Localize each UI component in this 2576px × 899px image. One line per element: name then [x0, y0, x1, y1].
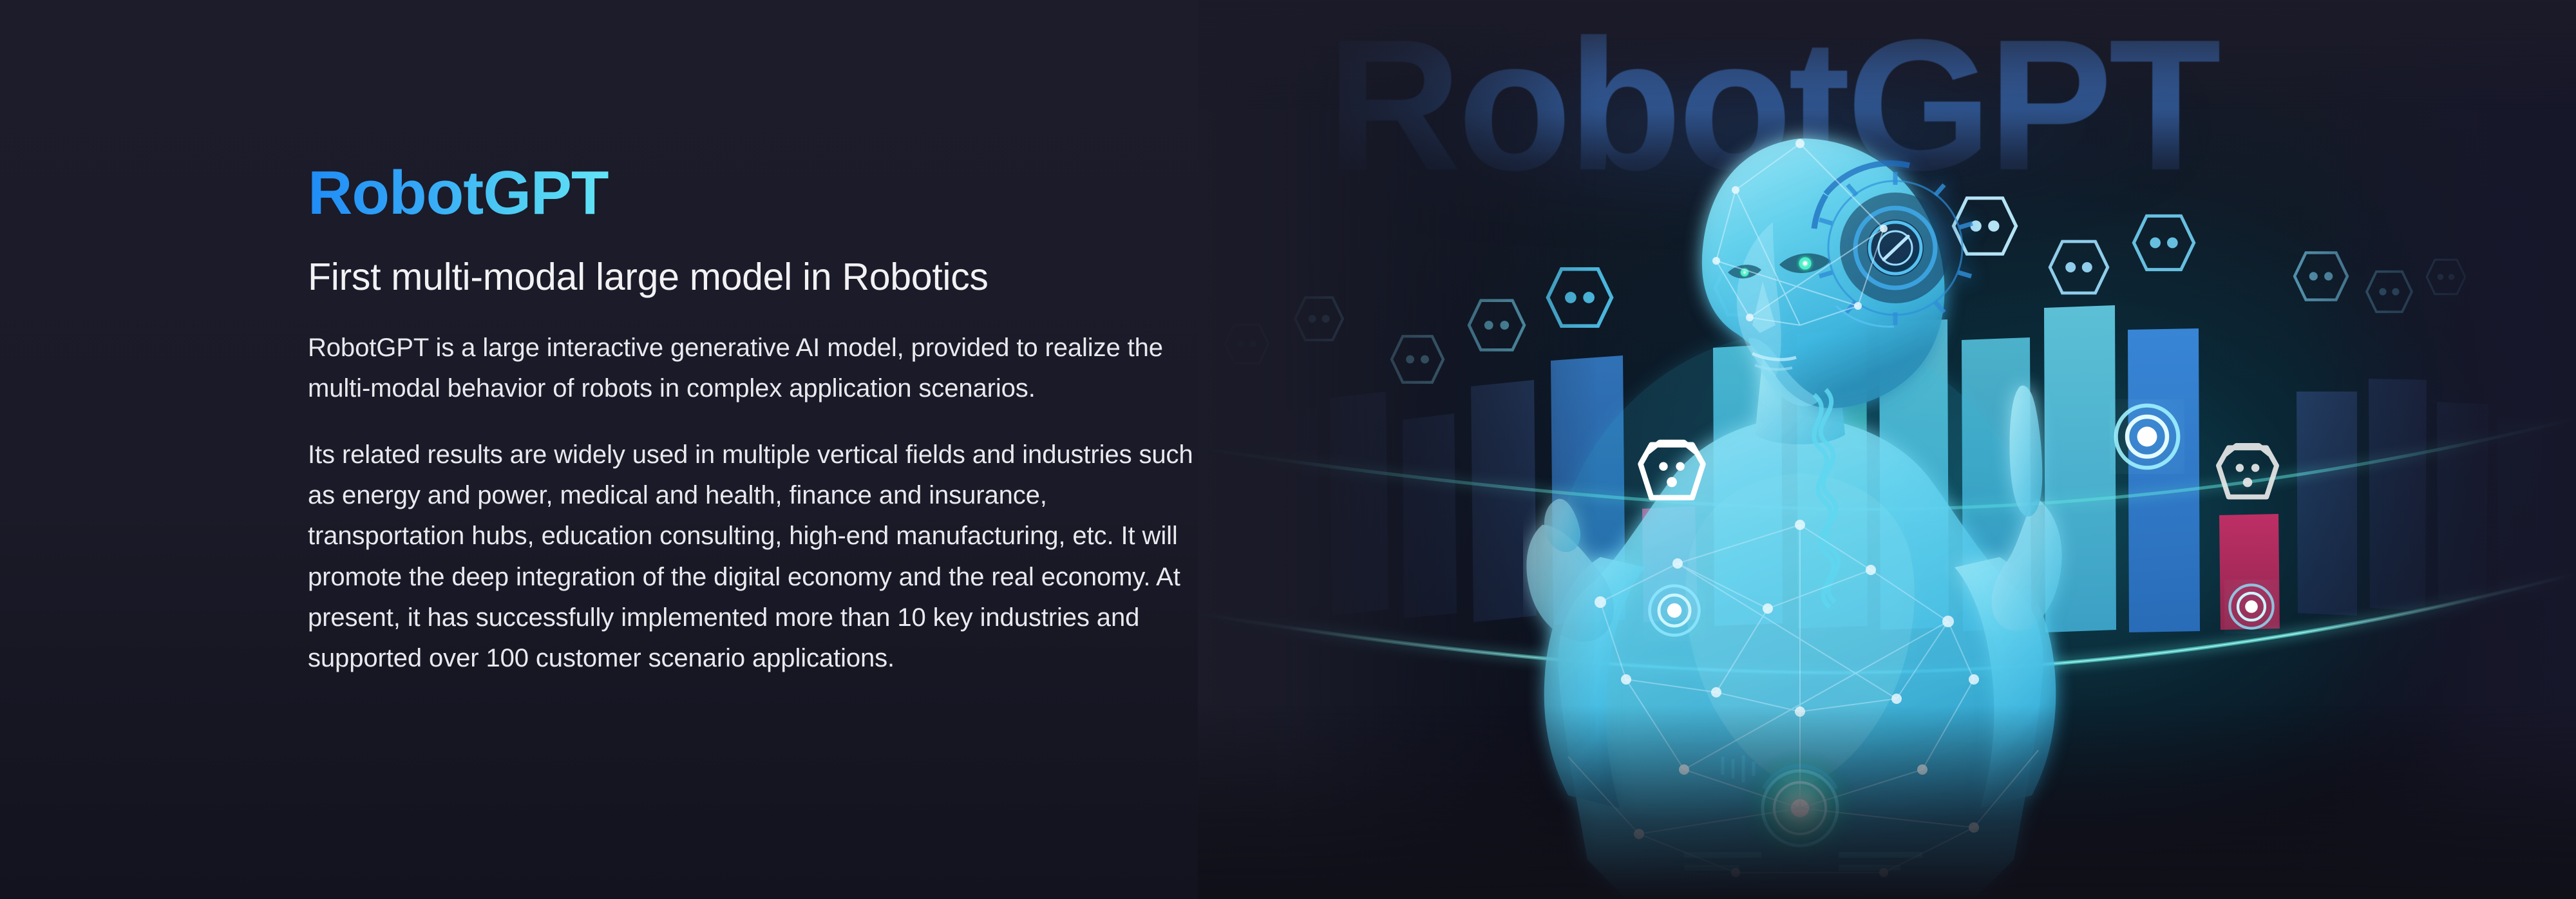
hero-paragraph-1: RobotGPT is a large interactive generati…	[308, 328, 1203, 409]
robot-face-hexagon-icon	[1467, 298, 1526, 353]
robot-face-hexagon-icon	[2293, 250, 2349, 303]
brand-title: RobotGPT	[308, 161, 609, 226]
hero-banner: RobotGPT	[0, 0, 2576, 899]
hero-subtitle: First multi-modal large model in Robotic…	[308, 256, 1222, 299]
glow-node-icon	[2110, 399, 2184, 474]
glow-node-icon	[2224, 580, 2278, 634]
robot-face-hexagon-icon-highlight	[1636, 433, 1708, 505]
hero-text-column: RobotGPT First multi-modal large model i…	[308, 161, 1222, 679]
robot-face-hexagon-icon	[1390, 334, 1445, 385]
robot-figure	[1523, 113, 2077, 899]
robot-face-hexagon-icon	[2132, 213, 2196, 273]
robot-face-hexagon-icon	[2425, 258, 2467, 296]
glow-node-icon	[1643, 580, 1705, 641]
hero-paragraph-2: Its related results are widely used in m…	[308, 435, 1203, 679]
robot-face-hexagon-icon	[1224, 322, 1270, 366]
hero-illustration: RobotGPT	[1198, 0, 2576, 899]
robot-face-hexagon-icon-highlight	[2214, 437, 2281, 504]
bar-group-right	[2297, 379, 2543, 616]
robot-face-hexagon-icon	[2365, 269, 2414, 314]
robot-face-hexagon-icon	[1293, 295, 1345, 343]
